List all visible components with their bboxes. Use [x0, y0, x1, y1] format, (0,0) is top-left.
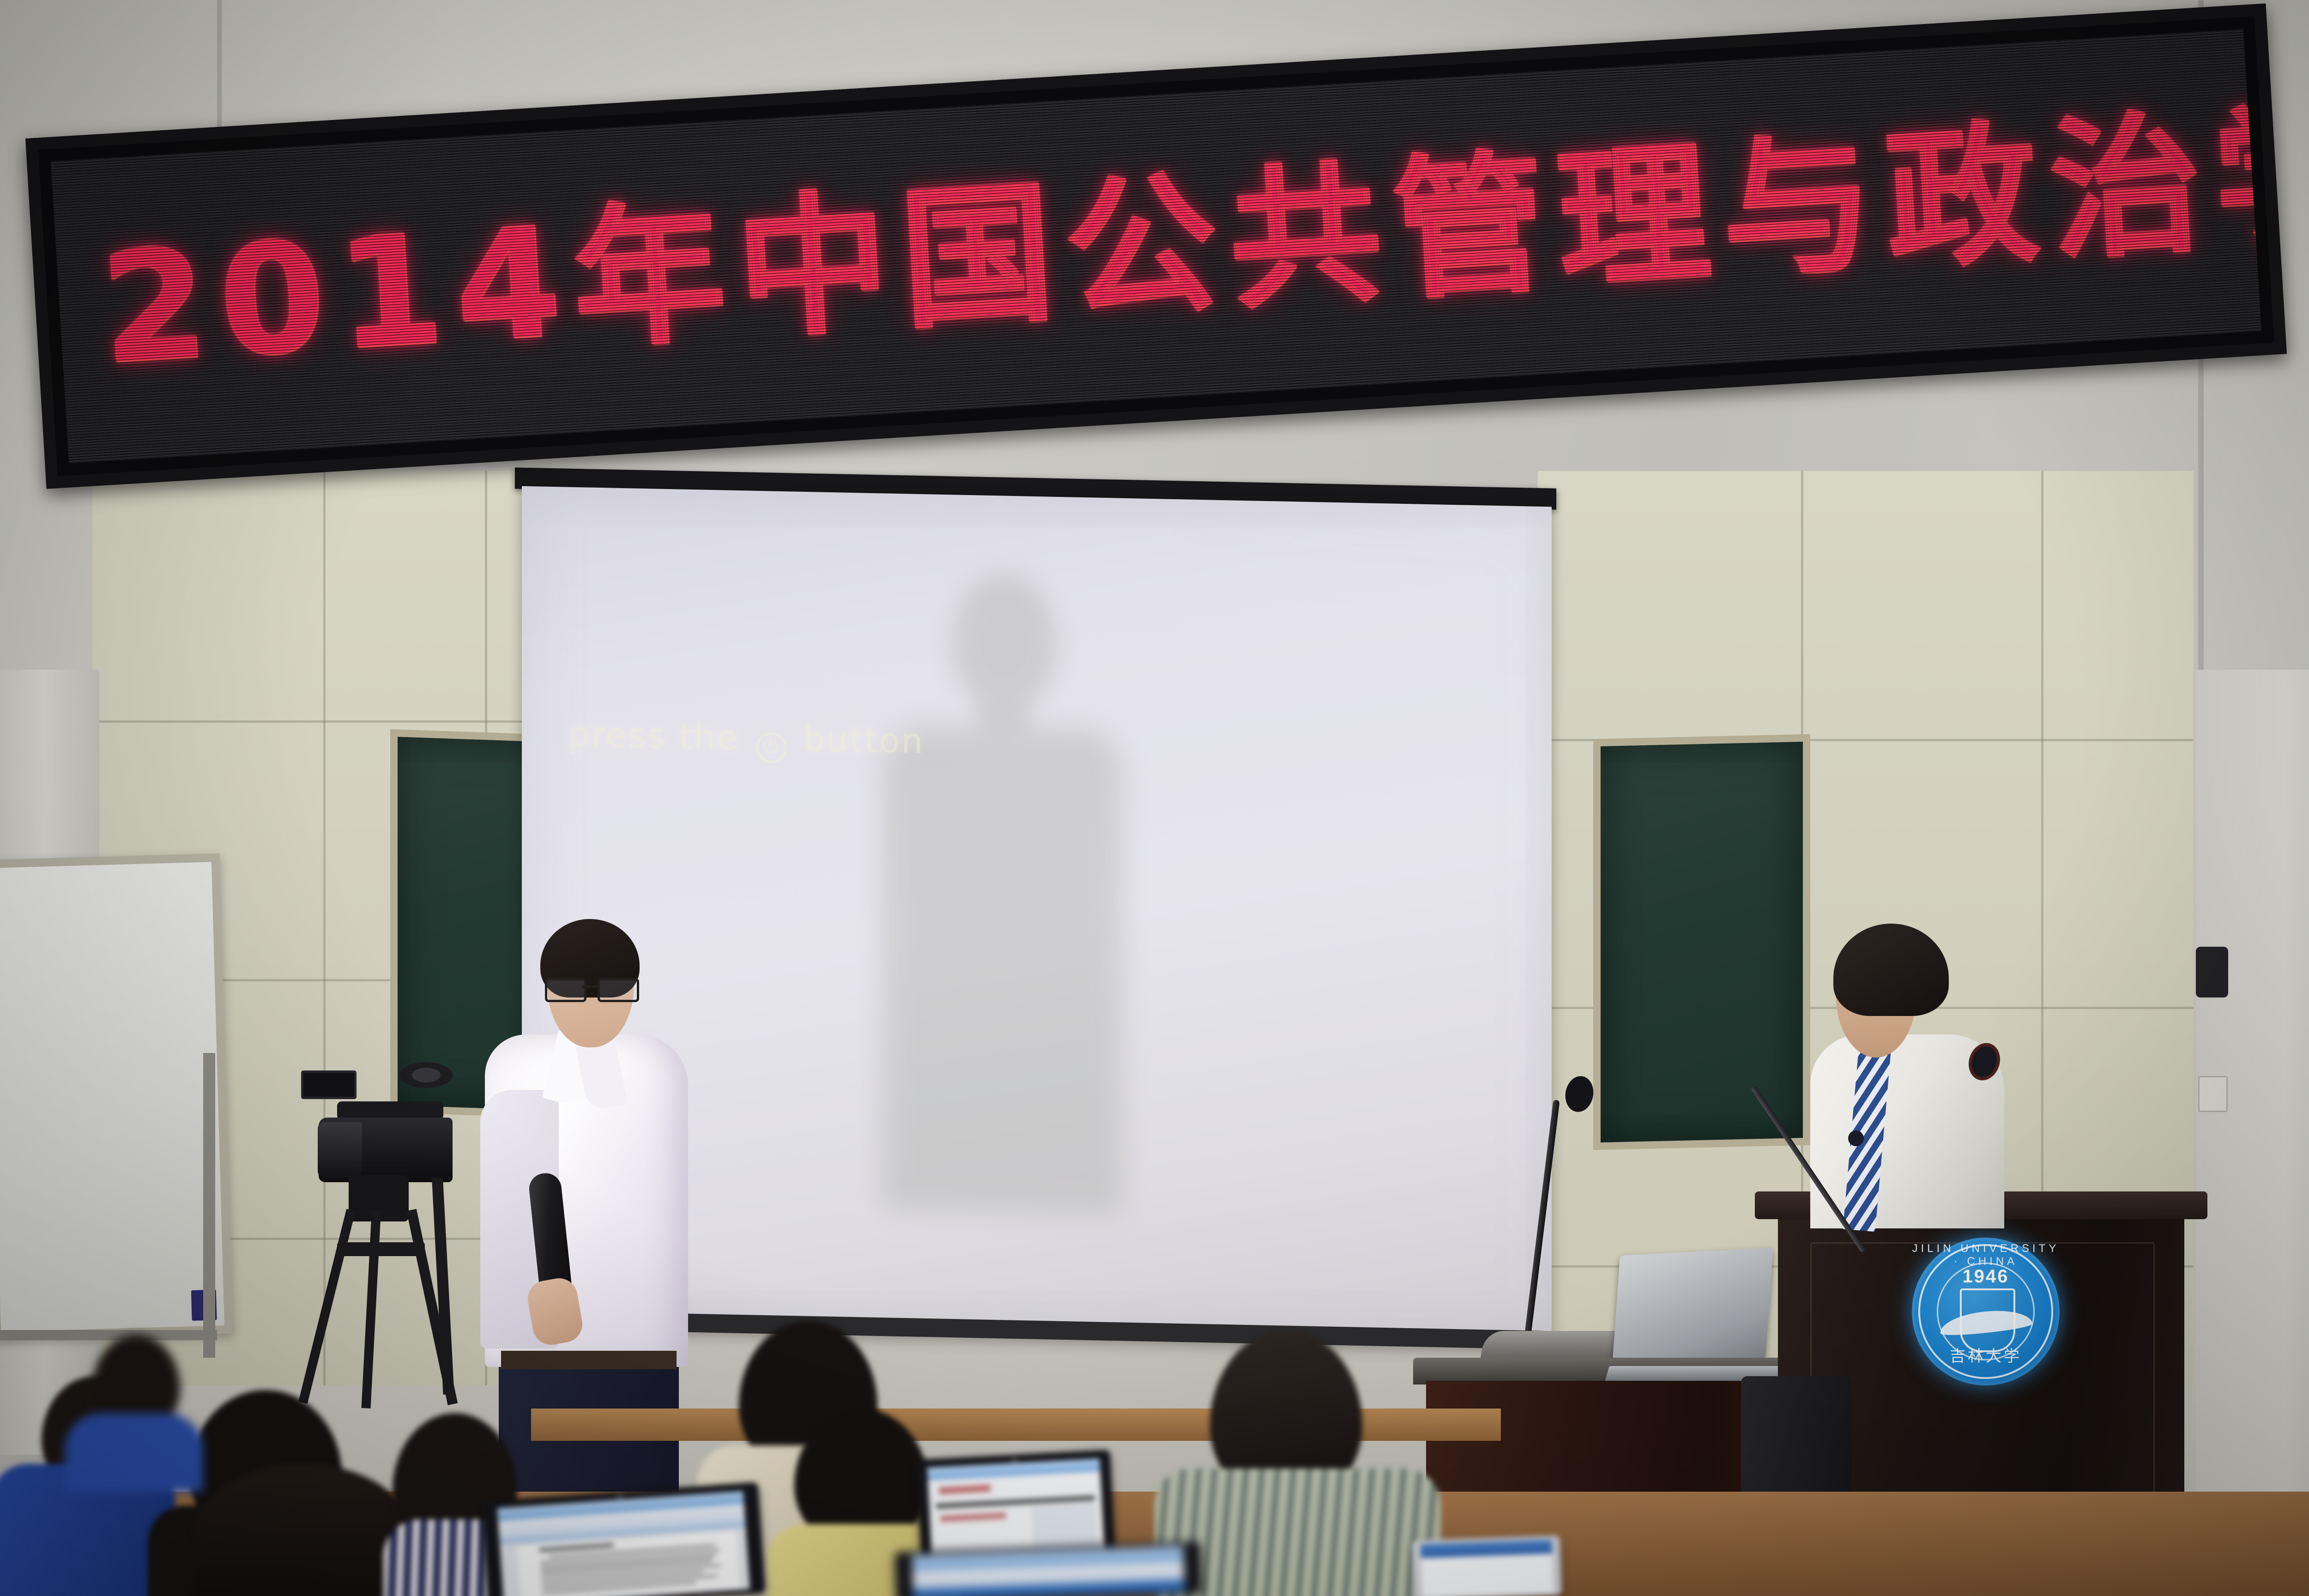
- list-item[interactable]: [1412, 1535, 1562, 1596]
- chalkboard-right: [1593, 734, 1810, 1150]
- tripod-leg: [298, 1209, 355, 1404]
- wall-speaker-icon: [2196, 947, 2228, 997]
- lectern-speaker: [1792, 914, 2023, 1228]
- page-heading: [940, 1512, 1006, 1522]
- lectern-speaker-hair: [1833, 924, 1949, 1016]
- audience-torso: [65, 1413, 203, 1492]
- tile-grout: [92, 720, 582, 723]
- list-item[interactable]: [481, 1482, 765, 1596]
- camera-lens-icon: [318, 1122, 362, 1178]
- audience-head: [194, 1464, 411, 1596]
- tripod-leg: [362, 1209, 381, 1408]
- projected-person-shadow: [873, 572, 1131, 1214]
- laptop-lid[interactable]: [1412, 1535, 1562, 1596]
- whiteboard-leg: [203, 1053, 215, 1358]
- tripod-spreader: [337, 1242, 425, 1256]
- projection-screen-caption: press the ⏻ button: [568, 715, 925, 766]
- power-outlet-icon: [2198, 1076, 2228, 1112]
- caption-lead: press the: [568, 715, 739, 758]
- laptop-screen[interactable]: [912, 1546, 1185, 1596]
- document-heading: [539, 1543, 614, 1552]
- audience-member: [65, 1335, 203, 1487]
- window-title-bar[interactable]: [1420, 1540, 1553, 1558]
- webcam-icon: [1011, 1457, 1017, 1463]
- laptop-screen[interactable]: [1420, 1540, 1554, 1596]
- whiteboard-surface[interactable]: [0, 853, 233, 1340]
- eyeglasses-icon: [545, 978, 635, 997]
- jilin-university-seal: JILIN UNIVERSITY · CHINA 1946 吉林大学: [1912, 1238, 2060, 1385]
- tripod-column: [432, 1177, 454, 1395]
- presenter-belt: [501, 1351, 677, 1369]
- video-camera-rig[interactable]: [277, 1058, 494, 1409]
- presenter-with-microphone: [476, 896, 707, 1450]
- whiteboard[interactable]: [0, 853, 233, 1340]
- lapel-microphone-icon: [1848, 1130, 1864, 1146]
- caption-tail: button: [803, 719, 924, 761]
- camera-microphone-inner: [412, 1068, 441, 1082]
- seal-founding-year: 1946: [1912, 1266, 2060, 1287]
- table-laptop-lid[interactable]: [1612, 1248, 1773, 1371]
- camera-handle[interactable]: [337, 1101, 443, 1120]
- laptop-screen[interactable]: [497, 1491, 750, 1596]
- page-heading: [938, 1485, 991, 1494]
- lecture-hall-photo: press the ⏻ button 2014年中国公共管理与政治学暑期研究方法…: [0, 0, 2309, 1596]
- power-button-glyph: ⏻: [756, 732, 786, 763]
- laptop-lid[interactable]: [481, 1482, 765, 1596]
- camera-lcd-screen: [301, 1070, 357, 1099]
- seal-chinese-text: 吉林大学: [1912, 1343, 2060, 1366]
- wall-column-right: [2196, 670, 2309, 1596]
